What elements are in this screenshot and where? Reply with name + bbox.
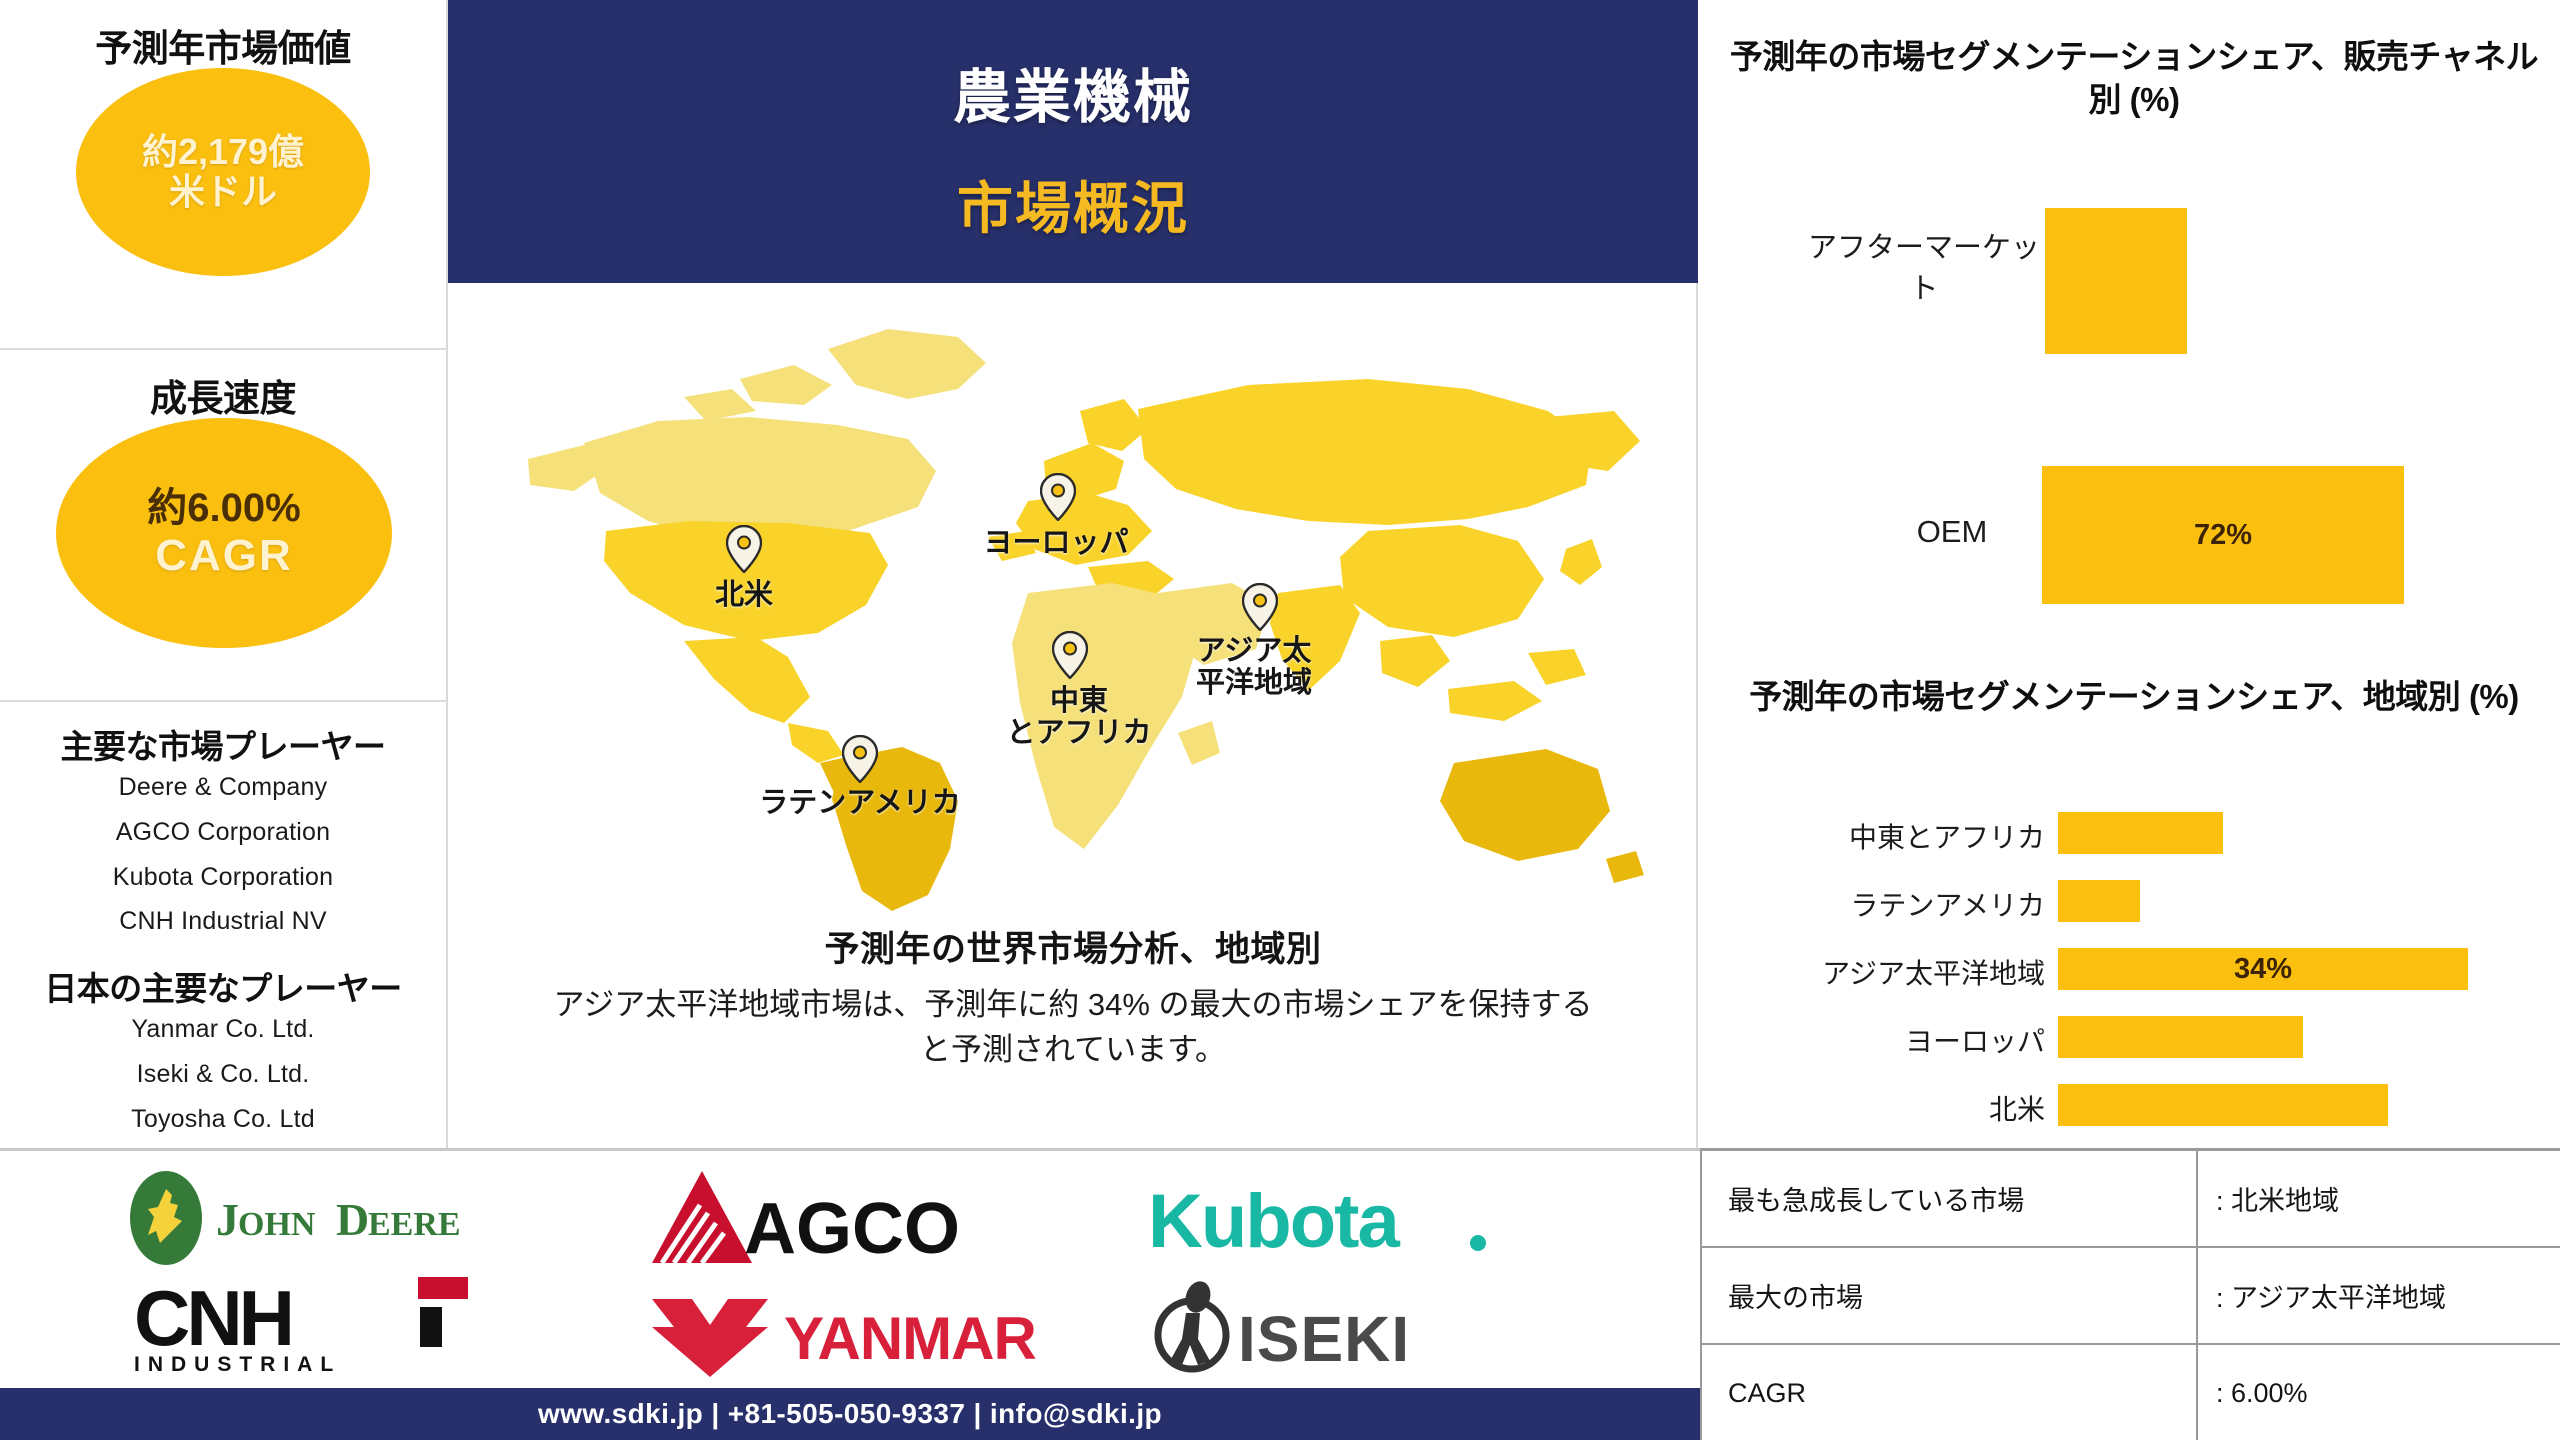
john-deere-icon: J OHN D EERE	[120, 1165, 540, 1271]
list-item: AGCO Corporation	[0, 819, 446, 846]
map-pin-north-america	[726, 525, 762, 573]
bar-label-mea: 中東とアフリカ	[1720, 816, 2045, 856]
japan-players-heading: 日本の主要なプレーヤー	[0, 962, 446, 1010]
logo-cnh-industrial: CNH INDUSTRIAL CNH INDUSTRIAL	[120, 1273, 540, 1379]
list-item: Toyosha Co. Ltd	[0, 1106, 446, 1133]
key-players-list: Deere & Company AGCO Corporation Kubota …	[0, 774, 446, 935]
bar-latam	[2058, 880, 2140, 922]
bar-label-na: 北米	[1720, 1088, 2045, 1128]
map-pin-middle-east-africa	[1052, 631, 1088, 679]
map-pin-europe	[1040, 473, 1076, 521]
growth-rate-heading: 成長速度	[0, 368, 446, 422]
logo-iseki: ISEKI ISEKI	[1140, 1273, 1540, 1379]
table-cell-value: : アジア太平洋地域	[2198, 1248, 2560, 1343]
key-players-heading: 主要な市場プレーヤー	[0, 720, 446, 768]
partner-logo-strip: J OHN D EERE JOHN DEERE AGCO AGCO Kubota	[0, 1148, 1700, 1388]
bar-europe	[2058, 1016, 2303, 1058]
bar-mea	[2058, 812, 2223, 854]
list-item: CNH Industrial NV	[0, 908, 446, 935]
summary-fact-table: 最も急成長している市場 : 北米地域 最大の市場 : アジア太平洋地域 CAGR…	[1700, 1148, 2560, 1440]
bar-label-aftermarket: アフターマーケット	[1800, 228, 2048, 309]
map-label-middle-east-africa: 中東 とアフリカ	[964, 685, 1194, 750]
map-panel: 北米 ヨーロッパ アジア太 平洋地域 中東 とアフリカ ラテンアメリカ 予測年の…	[448, 283, 1698, 1148]
world-map-container: 北米 ヨーロッパ アジア太 平洋地域 中東 とアフリカ ラテンアメリカ	[448, 283, 1698, 923]
logo-john-deere: J OHN D EERE JOHN DEERE	[120, 1165, 540, 1271]
svg-text:EERE: EERE	[368, 1206, 461, 1243]
table-row: 最大の市場 : アジア太平洋地域	[1702, 1248, 2560, 1345]
svg-text:ISEKI: ISEKI	[1238, 1303, 1410, 1375]
page-title: 農業機械	[953, 50, 1193, 134]
table-row: CAGR : 6.00%	[1702, 1345, 2560, 1440]
map-pin-latin-america	[842, 735, 878, 783]
list-item: Kubota Corporation	[0, 864, 446, 891]
bar-na	[2058, 1084, 2388, 1126]
chart-title-by-region: 予測年の市場セグメンテーションシェア、地域別 (%)	[1720, 676, 2548, 719]
map-caption-title: 予測年の世界市場分析、地域別	[448, 921, 1698, 972]
agco-icon: AGCO	[640, 1165, 1020, 1271]
logo-agco: AGCO AGCO	[640, 1165, 1020, 1271]
market-value-unit: 米ドル	[169, 172, 277, 212]
table-cell-key: 最大の市場	[1702, 1248, 2198, 1343]
svg-text:Kubota: Kubota	[1148, 1179, 1400, 1264]
header-banner: 農業機械 市場概況	[448, 0, 1698, 283]
bar-apac: 34%	[2058, 948, 2468, 990]
bar-oem: 72%	[2042, 466, 2404, 604]
sidebar-divider-2	[0, 700, 446, 702]
infographic-root: 予測年市場価値 約2,179億 米ドル 成長速度 約6.00% CAGR 主要な…	[0, 0, 2560, 1440]
list-item: Deere & Company	[0, 774, 446, 801]
left-sidebar: 予測年市場価値 約2,179億 米ドル 成長速度 約6.00% CAGR 主要な…	[0, 0, 448, 1148]
bar-value-oem: 72%	[2194, 519, 2252, 552]
footer-contact-text: www.sdki.jp | +81-505-050-9337 | info@sd…	[538, 1398, 1162, 1430]
page-subtitle: 市場概況	[957, 164, 1189, 245]
bar-label-europe: ヨーロッパ	[1720, 1020, 2045, 1060]
kubota-icon: Kubota	[1140, 1165, 1540, 1271]
footer-contact-bar: www.sdki.jp | +81-505-050-9337 | info@sd…	[0, 1388, 1700, 1440]
table-cell-value: : 北米地域	[2198, 1151, 2560, 1246]
map-pin-asia-pacific	[1242, 583, 1278, 631]
yanmar-icon: YANMAR	[640, 1273, 1040, 1379]
svg-text:D: D	[336, 1194, 369, 1245]
svg-text:AGCO: AGCO	[744, 1189, 960, 1269]
map-caption-body: アジア太平洋地域市場は、予測年に約 34% の最大の市場シェアを保持すると予測さ…	[543, 983, 1603, 1073]
map-label-north-america: 北米	[664, 579, 824, 611]
svg-text:INDUSTRIAL: INDUSTRIAL	[134, 1353, 341, 1376]
list-item: Yanmar Co. Ltd.	[0, 1016, 446, 1043]
bar-label-apac: アジア太平洋地域	[1710, 952, 2045, 992]
list-item: Iseki & Co. Ltd.	[0, 1061, 446, 1088]
table-row: 最も急成長している市場 : 北米地域	[1702, 1151, 2560, 1248]
bar-value-apac: 34%	[2234, 953, 2292, 986]
cnh-industrial-icon: CNH INDUSTRIAL	[120, 1273, 540, 1379]
svg-text:YANMAR: YANMAR	[784, 1305, 1036, 1372]
svg-text:J: J	[216, 1194, 238, 1245]
logo-yanmar: YANMAR YANMAR	[640, 1273, 1040, 1379]
logo-kubota: Kubota Kubota	[1140, 1165, 1540, 1271]
right-charts-panel: 予測年の市場セグメンテーションシェア、販売チャネル別 (%) アフターマーケット…	[1700, 0, 2560, 1148]
growth-rate-bubble: 約6.00% CAGR	[56, 418, 392, 648]
table-cell-value: : 6.00%	[2198, 1345, 2560, 1440]
bar-label-latam: ラテンアメリカ	[1720, 884, 2045, 924]
bar-aftermarket	[2045, 208, 2187, 354]
market-value-amount: 約2,179億	[142, 132, 304, 172]
table-cell-key: 最も急成長している市場	[1702, 1151, 2198, 1246]
iseki-icon: ISEKI	[1140, 1273, 1540, 1379]
japan-players-list: Yanmar Co. Ltd. Iseki & Co. Ltd. Toyosha…	[0, 1016, 446, 1132]
chart-title-sales-channel: 予測年の市場セグメンテーションシェア、販売チャネル別 (%)	[1720, 36, 2548, 122]
market-value-heading: 予測年市場価値	[0, 18, 446, 72]
svg-text:CNH: CNH	[134, 1274, 291, 1362]
table-cell-key: CAGR	[1702, 1345, 2198, 1440]
map-label-europe: ヨーロッパ	[946, 527, 1166, 559]
cagr-value: 約6.00%	[147, 486, 300, 531]
bar-label-oem: OEM	[1870, 510, 2034, 553]
cagr-label: CAGR	[155, 531, 293, 580]
sidebar-divider-1	[0, 348, 446, 350]
svg-text:OHN: OHN	[238, 1206, 316, 1243]
map-label-latin-america: ラテンアメリカ	[744, 787, 976, 819]
market-value-bubble: 約2,179億 米ドル	[76, 68, 370, 276]
